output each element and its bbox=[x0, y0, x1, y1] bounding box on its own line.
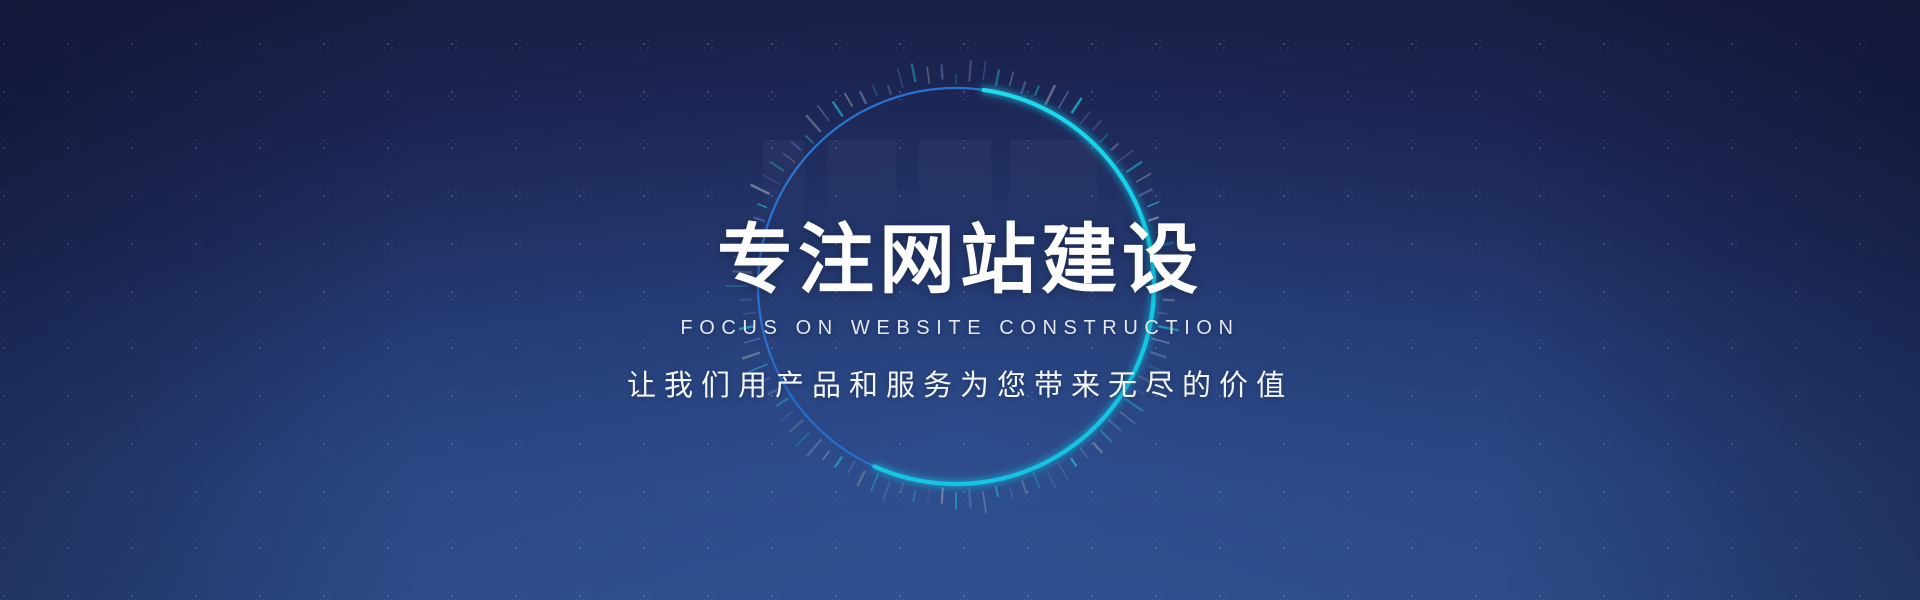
hero-banner: 专注网站建设 FOCUS ON WEBSITE CONSTRUCTION 让我们… bbox=[0, 0, 1920, 600]
banner-text-block: 专注网站建设 FOCUS ON WEBSITE CONSTRUCTION 让我们… bbox=[0, 222, 1920, 404]
page-title: 专注网站建设 bbox=[0, 222, 1920, 298]
subtitle-chinese: 让我们用产品和服务为您带来无尽的价值 bbox=[0, 362, 1920, 404]
subtitle-english: FOCUS ON WEBSITE CONSTRUCTION bbox=[0, 317, 1920, 340]
